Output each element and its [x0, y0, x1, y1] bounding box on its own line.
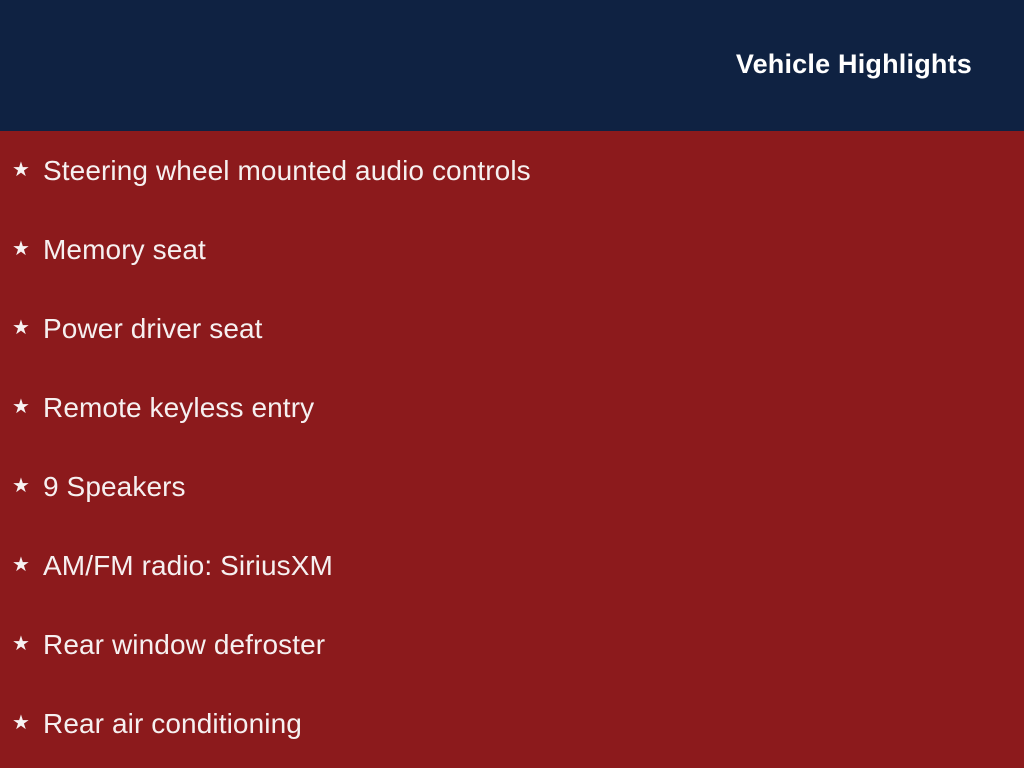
list-item: ★ Memory seat [0, 210, 1024, 289]
list-item-label: Rear window defroster [43, 628, 325, 662]
star-bullet-icon: ★ [12, 709, 31, 737]
list-item: ★ AM/FM radio: SiriusXM [0, 526, 1024, 605]
list-item: ★ Remote keyless entry [0, 368, 1024, 447]
star-bullet-icon: ★ [12, 630, 31, 658]
list-item-label: Memory seat [43, 233, 206, 267]
list-item-label: 9 Speakers [43, 470, 186, 504]
list-item-label: Steering wheel mounted audio controls [43, 154, 531, 188]
list-item-label: AM/FM radio: SiriusXM [43, 549, 333, 583]
list-item: ★ Power driver seat [0, 289, 1024, 368]
star-bullet-icon: ★ [12, 551, 31, 579]
list-item-label: Rear air conditioning [43, 707, 302, 741]
star-bullet-icon: ★ [12, 235, 31, 263]
list-item: ★ Steering wheel mounted audio controls [0, 131, 1024, 210]
vehicle-highlights-slide: Vehicle Highlights ★ Steering wheel moun… [0, 0, 1024, 768]
star-bullet-icon: ★ [12, 314, 31, 342]
star-bullet-icon: ★ [12, 472, 31, 500]
highlights-content-area: ★ Steering wheel mounted audio controls … [0, 131, 1024, 768]
page-title: Vehicle Highlights [736, 48, 972, 80]
list-item: ★ Rear window defroster [0, 605, 1024, 684]
list-item: ★ Rear air conditioning [0, 684, 1024, 763]
star-bullet-icon: ★ [12, 156, 31, 184]
vehicle-highlights-list: ★ Steering wheel mounted audio controls … [0, 131, 1024, 763]
slide-header-band: Vehicle Highlights [0, 0, 1024, 131]
star-bullet-icon: ★ [12, 393, 31, 421]
list-item: ★ 9 Speakers [0, 447, 1024, 526]
list-item-label: Power driver seat [43, 312, 263, 346]
list-item-label: Remote keyless entry [43, 391, 314, 425]
